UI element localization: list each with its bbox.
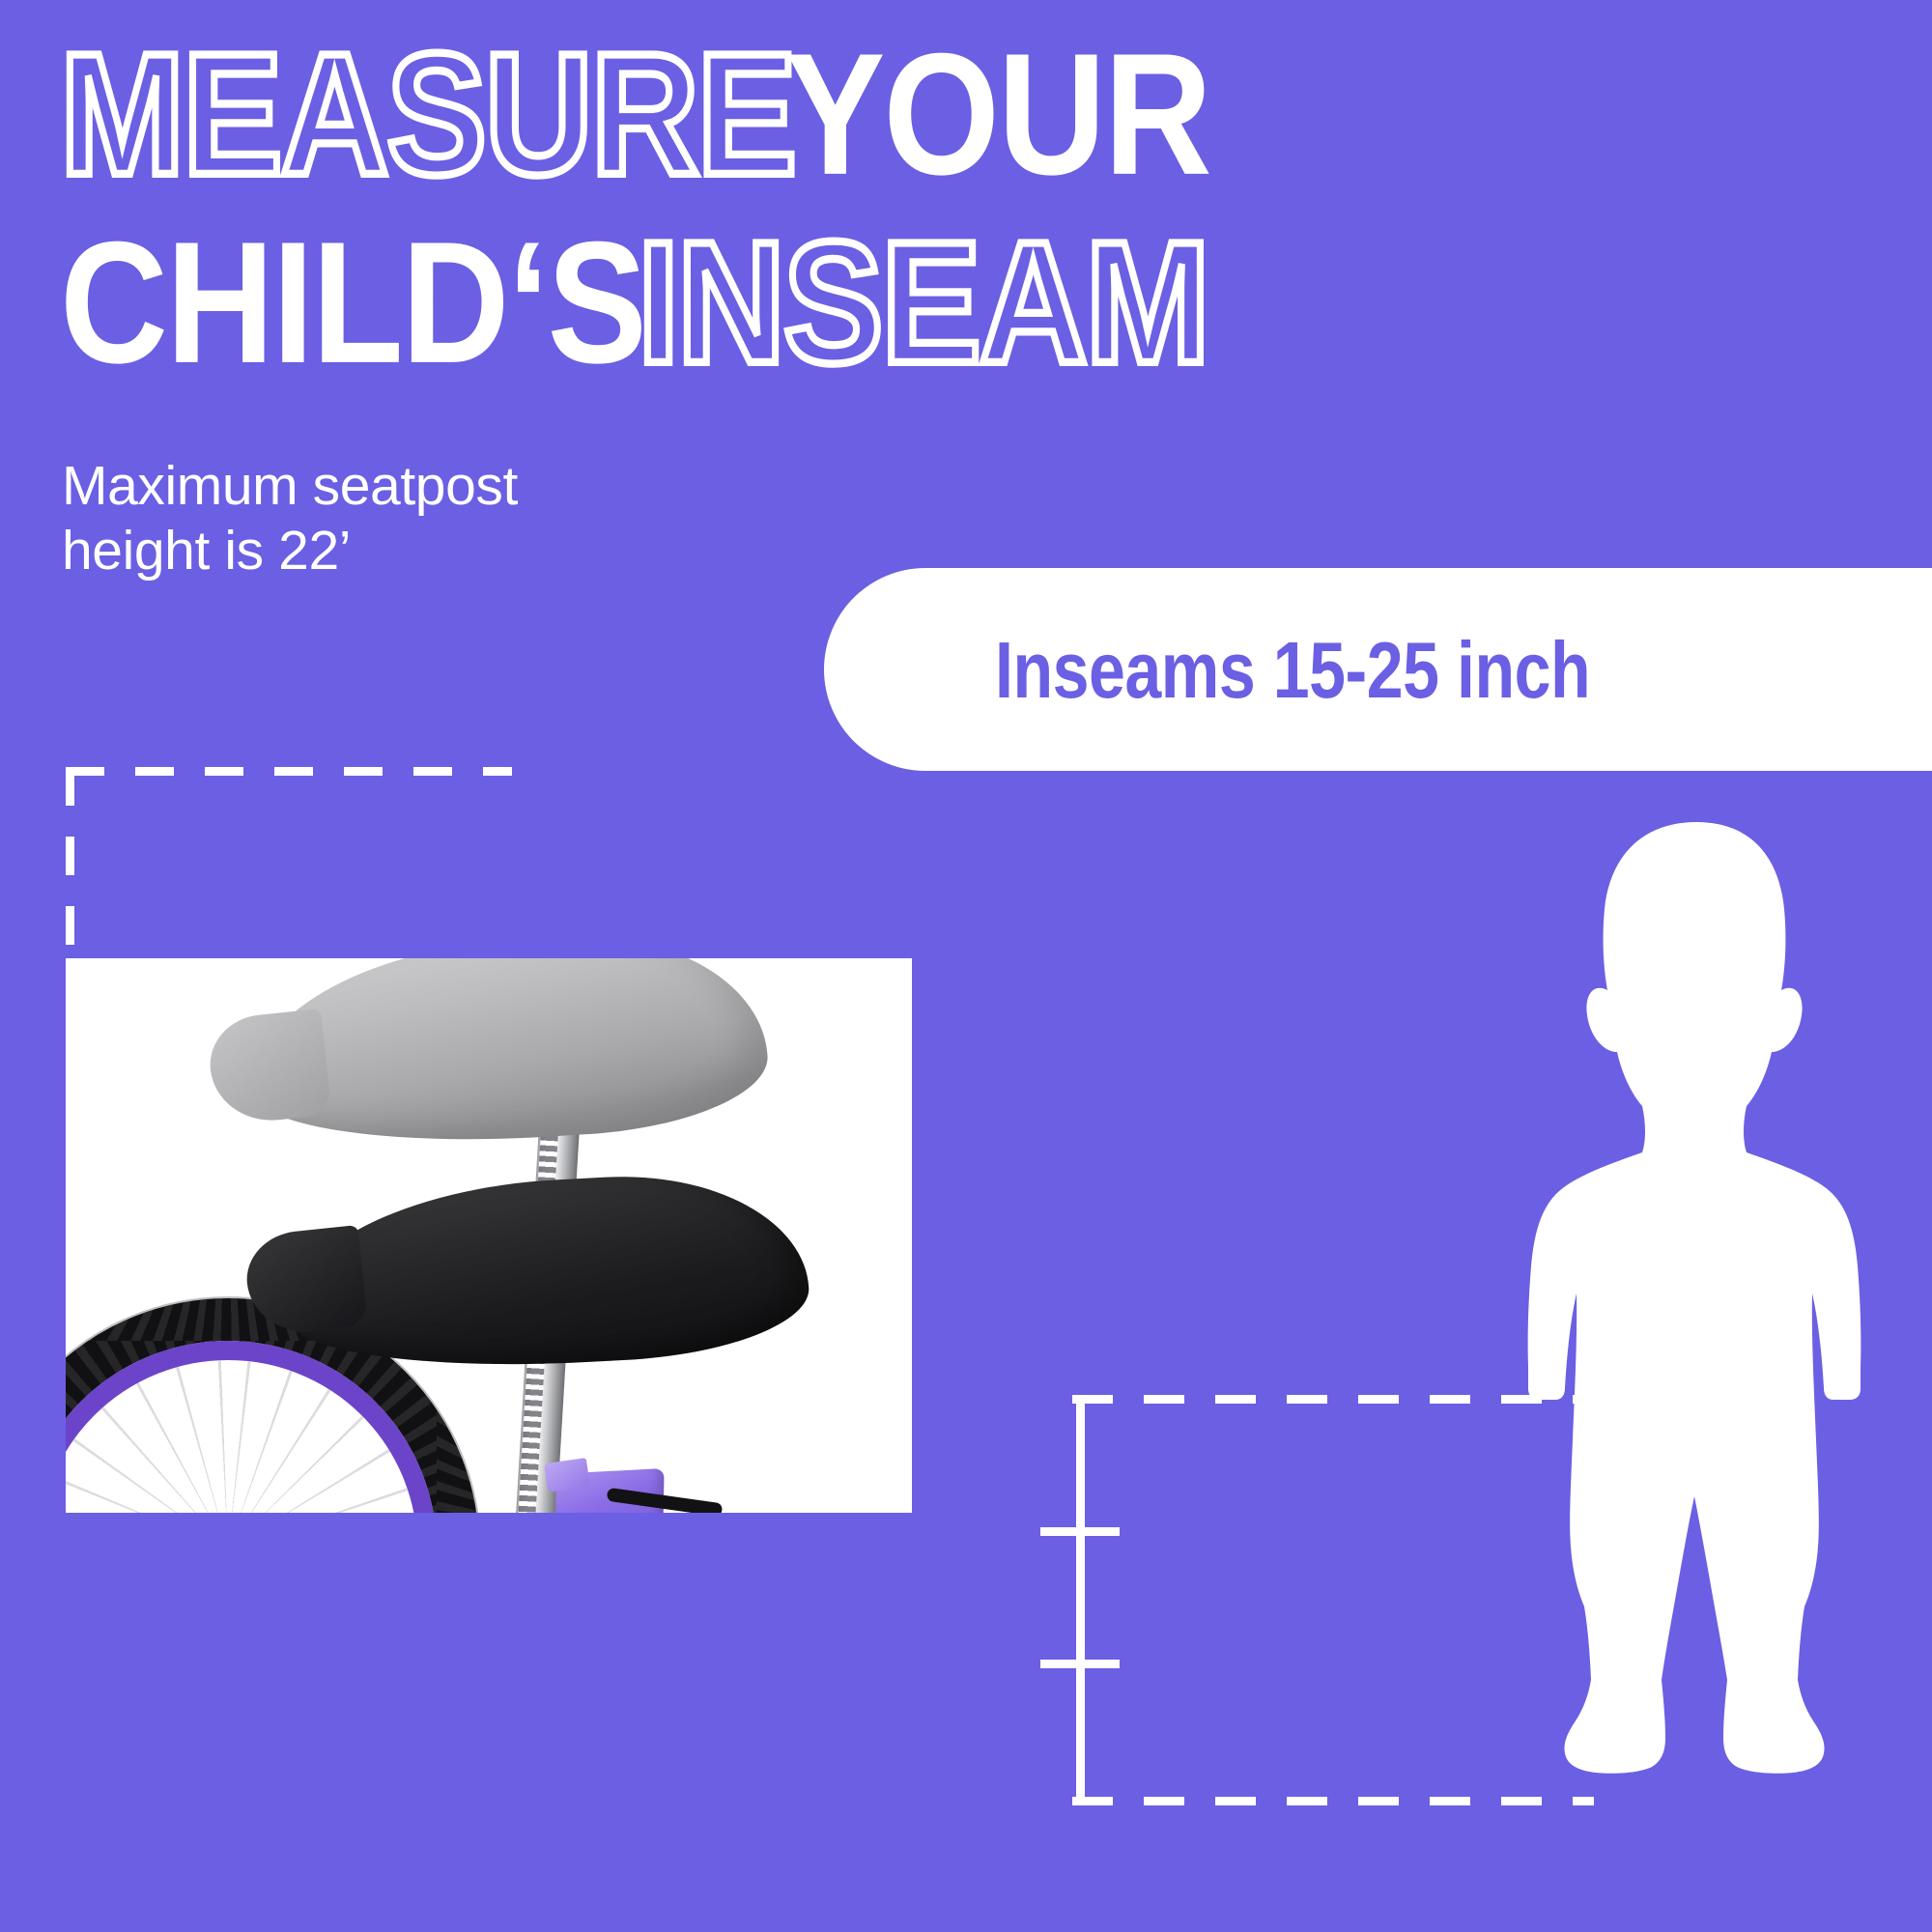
ruler-tick-2 [1040, 1660, 1120, 1668]
ruler-tick-1 [1040, 1527, 1120, 1536]
caption-line-1: Maximum seatpost [62, 454, 680, 519]
poster-canvas: MEASURE YOUR CHILD‘S INSEAM Maximum seat… [0, 0, 1932, 1932]
caption-line-2: height is 22’ [62, 519, 680, 583]
headline-word-inseam: INSEAM [638, 218, 1208, 388]
ruler-vertical-line [1076, 1397, 1085, 1804]
product-photo-inner [66, 958, 912, 1513]
headline-word-your: YOUR [785, 30, 1210, 200]
headline-word-measure: MEASURE [60, 30, 795, 200]
seatpost-height-caption: Maximum seatpost height is 22’ [62, 454, 680, 584]
gray-saddle-nose-icon [206, 1009, 332, 1126]
inseam-range-label: Inseams 15-25 inch [995, 623, 1590, 715]
child-silhouette-icon [1495, 816, 1920, 1811]
dashed-line-top [66, 767, 512, 776]
headline-line-2: CHILD‘S INSEAM [60, 244, 1567, 388]
inseam-range-badge: Inseams 15-25 inch [824, 568, 1932, 771]
product-photo [66, 958, 912, 1513]
page-title: MEASURE YOUR CHILD‘S INSEAM [60, 56, 1567, 388]
headline-word-childs: CHILD‘S [60, 218, 645, 388]
quick-release-lever-icon [544, 1458, 590, 1492]
headline-line-1: MEASURE YOUR [60, 56, 1567, 200]
